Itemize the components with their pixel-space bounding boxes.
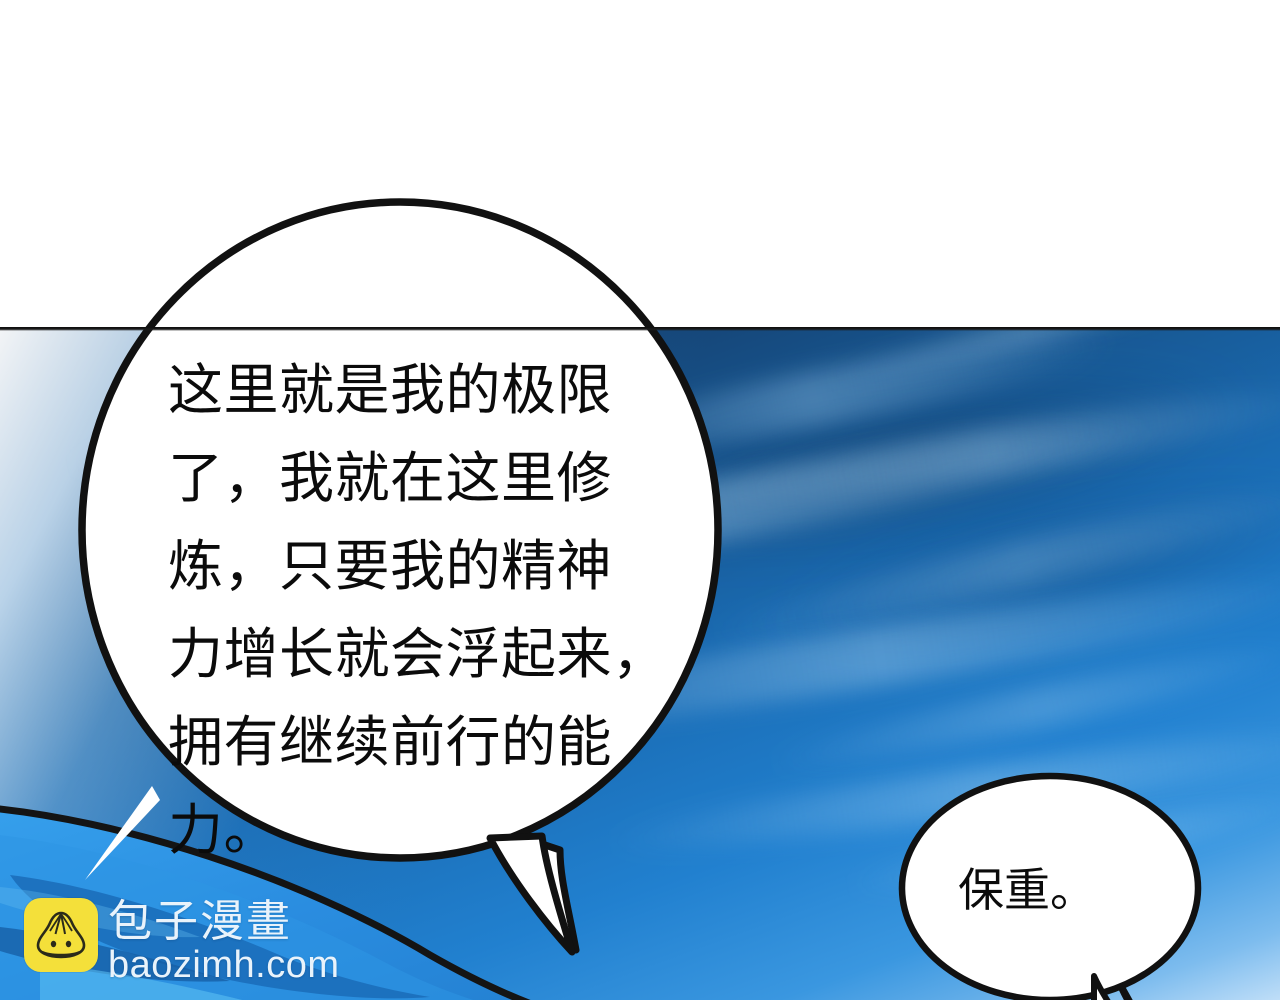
light-streak — [823, 327, 1237, 393]
water-shadow-band — [754, 446, 1280, 688]
baozimh-watermark: 包子漫畫 baozimh.com — [24, 898, 339, 984]
manga-page: 这里就是我的极限 了，我就在这里修 炼，只要我的精神 力增长就会浮起来， 拥有继… — [0, 0, 1280, 1000]
light-streak — [703, 471, 1280, 658]
watermark-brand-cn: 包子漫畫 — [108, 900, 339, 944]
speech-bubble-main-text: 这里就是我的极限 了，我就在这里修 炼，只要我的精神 力增长就会浮起来， 拥有继… — [168, 346, 678, 874]
light-streak — [762, 629, 1280, 785]
watermark-brand-url: baozimh.com — [108, 946, 339, 984]
watermark-text: 包子漫畫 baozimh.com — [108, 898, 339, 984]
baozi-bun-icon — [24, 898, 98, 972]
speech-bubble-secondary-text: 保重。 — [958, 862, 1178, 918]
